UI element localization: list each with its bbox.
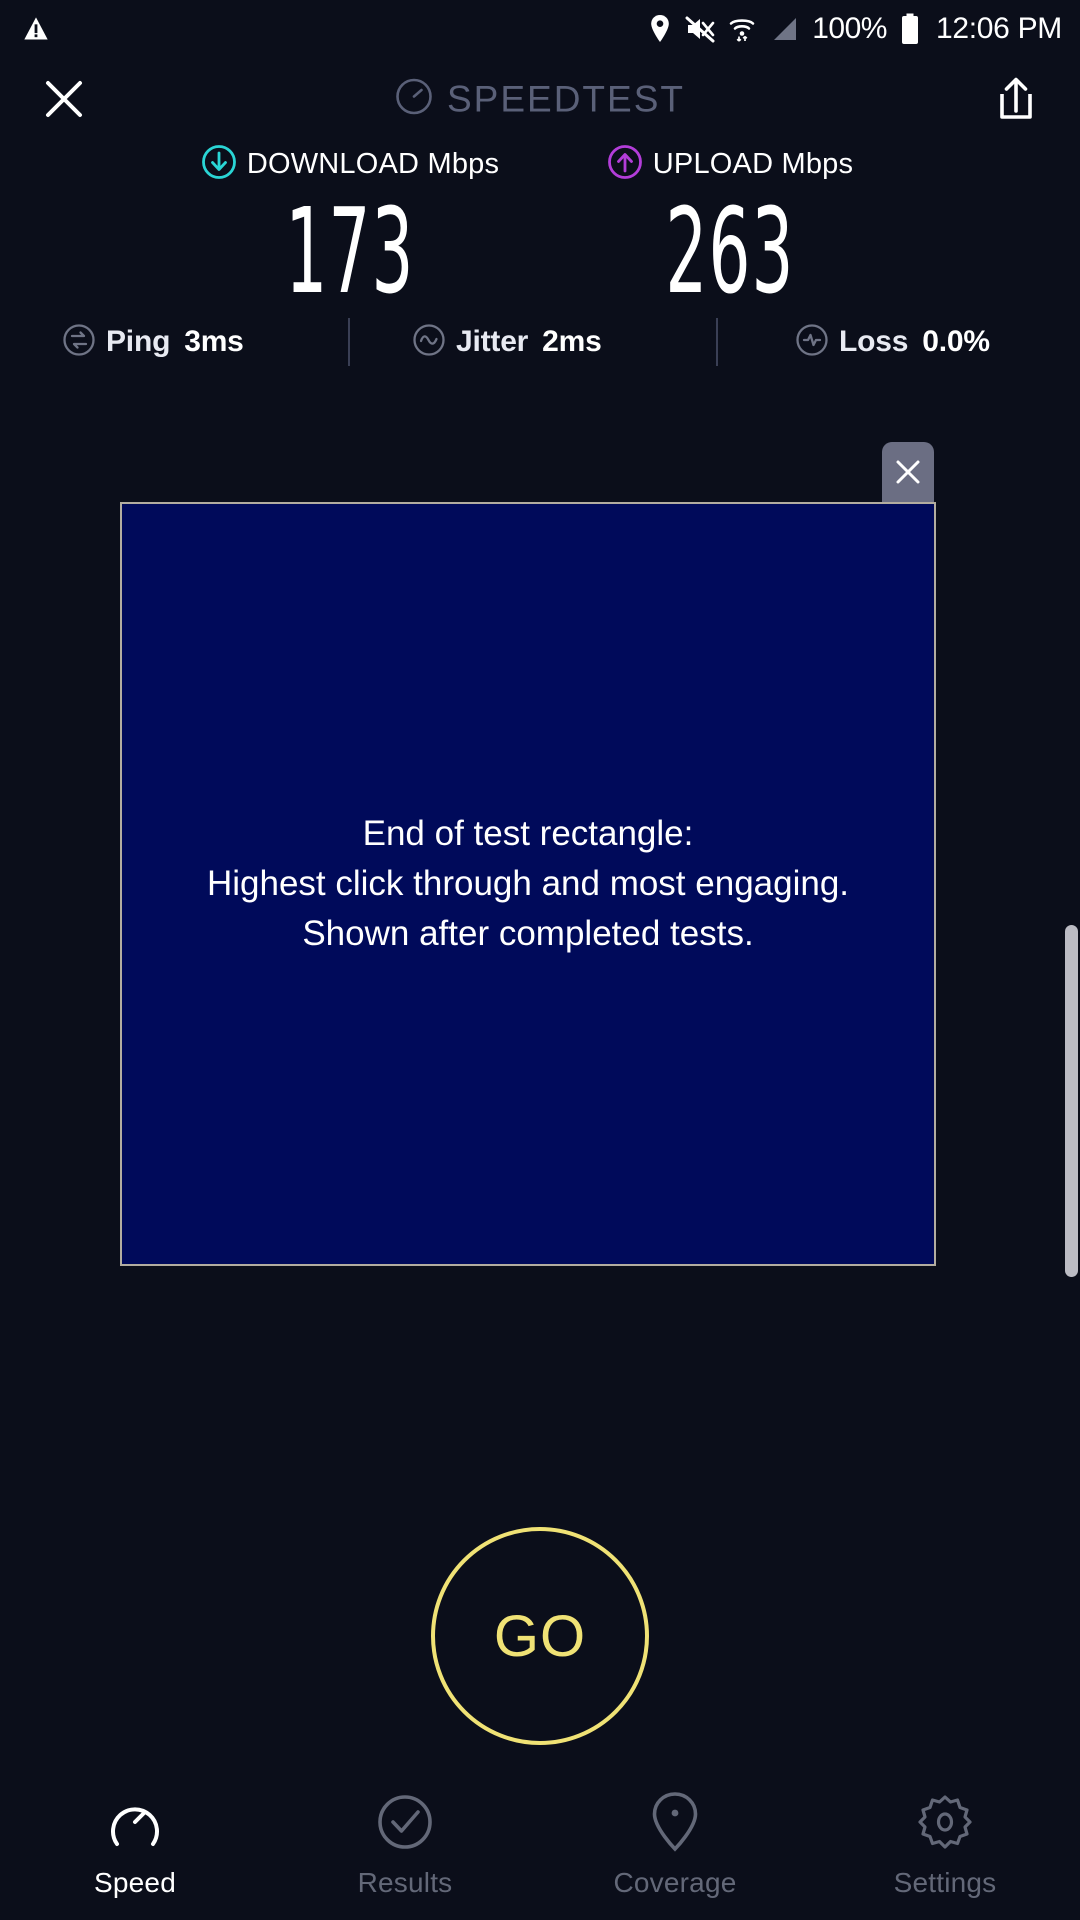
advertisement-banner[interactable]: End of test rectangle: Highest click thr…: [120, 502, 936, 1266]
jitter-icon: [412, 323, 446, 362]
loss-metric: Loss 0.0%: [795, 323, 990, 362]
battery-percent-label: 100%: [812, 12, 887, 46]
advertisement-container: End of test rectangle: Highest click thr…: [120, 502, 936, 1266]
upload-unit: Mbps: [782, 148, 854, 180]
jitter-value: 2ms: [542, 325, 601, 359]
speedtest-app-screen: 100% 12:06 PM SPEEDTEST: [0, 0, 1080, 1920]
nav-label-speed: Speed: [94, 1867, 176, 1899]
jitter-metric: Jitter 2ms: [412, 323, 602, 362]
download-label: DOWNLOAD: [247, 148, 419, 180]
ad-line-3: Shown after completed tests.: [207, 909, 849, 959]
download-value: 173: [248, 192, 453, 310]
go-button[interactable]: GO: [431, 1527, 649, 1745]
battery-icon: [900, 13, 920, 45]
vertical-scrollbar[interactable]: [1065, 925, 1078, 1277]
ping-metric: Ping 3ms: [62, 323, 244, 362]
download-arrow-icon: [201, 144, 237, 185]
share-button[interactable]: [988, 71, 1044, 127]
gear-icon: [916, 1791, 974, 1853]
divider-1: [348, 318, 350, 366]
ping-value: 3ms: [184, 325, 243, 359]
nav-item-speed[interactable]: Speed: [0, 1770, 270, 1920]
nav-item-results[interactable]: Results: [270, 1770, 540, 1920]
loss-label: Loss: [839, 325, 908, 359]
upload-value: 263: [628, 192, 833, 310]
nav-label-results: Results: [358, 1867, 453, 1899]
speedometer-icon: [105, 1791, 165, 1853]
app-bar: SPEEDTEST: [0, 58, 1080, 140]
check-circle-icon: [376, 1791, 434, 1853]
bottom-navigation-bar: Speed Results Coverage: [0, 1770, 1080, 1920]
upload-arrow-icon: [607, 144, 643, 185]
status-bar: 100% 12:06 PM: [0, 0, 1080, 58]
go-button-label: GO: [494, 1603, 586, 1670]
ping-label: Ping: [106, 325, 170, 359]
nav-item-settings[interactable]: Settings: [810, 1770, 1080, 1920]
close-icon: [42, 77, 86, 121]
cellular-signal-icon: [769, 14, 799, 44]
ad-text-block: End of test rectangle: Highest click thr…: [189, 809, 867, 958]
warning-triangle-icon: [22, 14, 50, 44]
share-icon: [994, 75, 1038, 123]
loss-icon: [795, 323, 829, 362]
ad-close-button[interactable]: [882, 442, 934, 502]
nav-label-settings: Settings: [894, 1867, 997, 1899]
jitter-label: Jitter: [456, 325, 528, 359]
clock-label: 12:06 PM: [936, 12, 1062, 46]
nav-item-coverage[interactable]: Coverage: [540, 1770, 810, 1920]
loss-value: 0.0%: [922, 325, 990, 359]
download-metric: DOWNLOAD Mbps 173: [185, 142, 515, 310]
upload-metric: UPLOAD Mbps 263: [565, 142, 895, 310]
close-icon: [893, 457, 923, 487]
status-bar-right-icons: 100% 12:06 PM: [648, 12, 1062, 46]
close-button[interactable]: [38, 73, 90, 125]
ad-line-2: Highest click through and most engaging.: [207, 859, 849, 909]
upload-label: UPLOAD: [653, 148, 773, 180]
speedometer-logo-icon: [395, 78, 433, 121]
brand-title: SPEEDTEST: [447, 78, 685, 120]
result-summary: DOWNLOAD Mbps 173 UPLOAD: [0, 142, 1080, 310]
location-pin-icon: [648, 14, 672, 44]
brand-logo: SPEEDTEST: [395, 78, 685, 121]
ad-line-1: End of test rectangle:: [207, 809, 849, 859]
map-pin-icon: [649, 1791, 701, 1853]
divider-2: [716, 318, 718, 366]
ping-icon: [62, 323, 96, 362]
nav-label-coverage: Coverage: [613, 1867, 736, 1899]
wifi-icon: [728, 14, 756, 44]
mute-icon: [685, 14, 715, 44]
status-bar-left-icons: [22, 14, 50, 44]
download-unit: Mbps: [427, 148, 499, 180]
network-quality-row: Ping 3ms Jitter 2ms Loss 0.0: [0, 314, 1080, 370]
